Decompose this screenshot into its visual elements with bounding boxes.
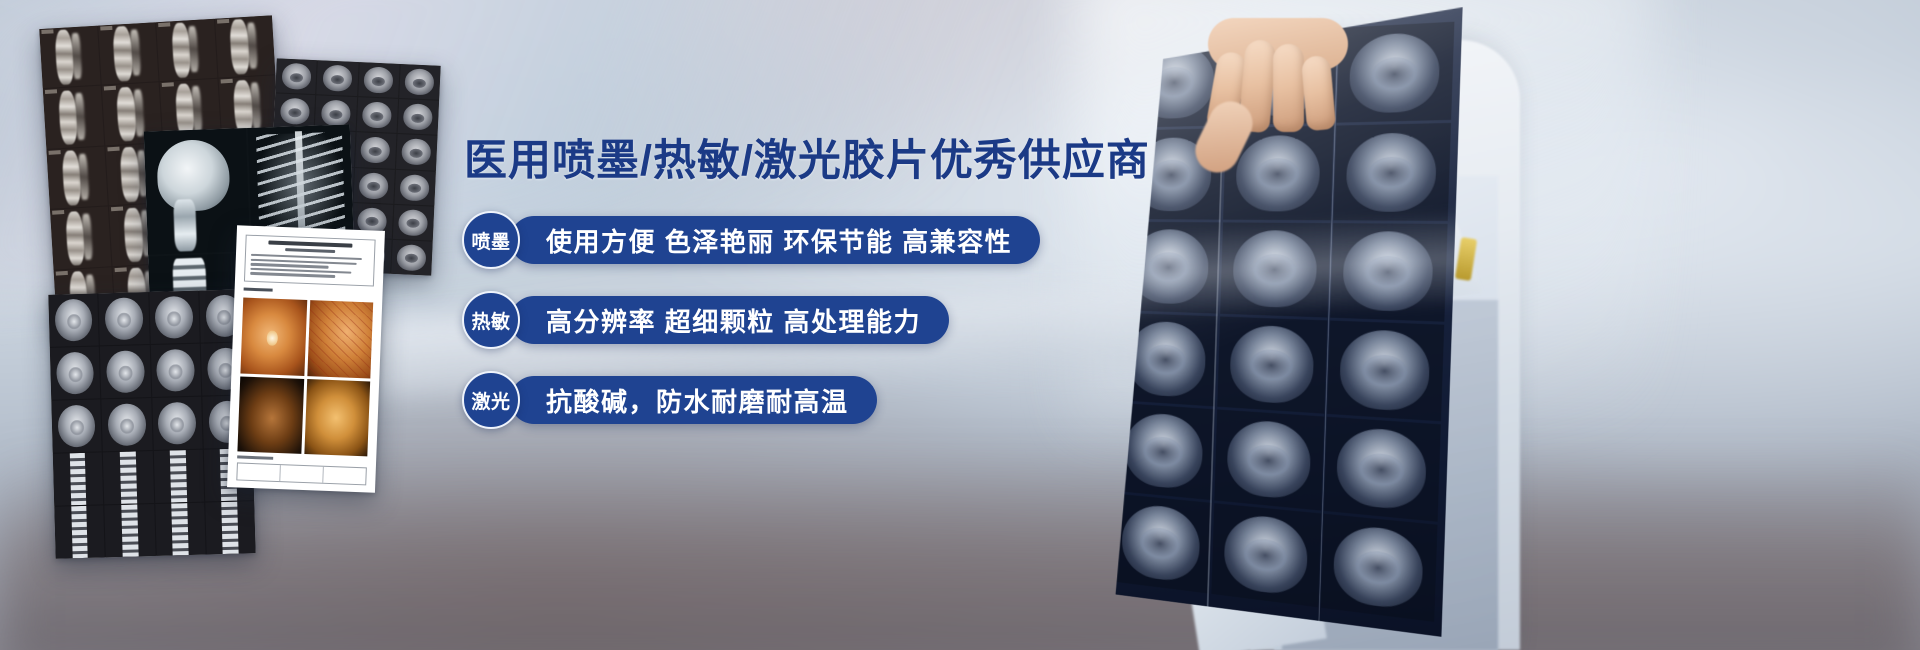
ultrasound-image-right (304, 379, 370, 457)
report-footer-table (236, 462, 367, 485)
brain-mri-spine-film (48, 289, 255, 558)
feature-text-thermal: 高分辨率 超细颗粒 高处理能力 (510, 296, 949, 344)
fundus-image-left (240, 297, 306, 375)
report-images (237, 297, 373, 456)
feature-text-inkjet: 使用方便 色泽艳丽 环保节能 高兼容性 (510, 216, 1040, 264)
page-title: 医用喷墨/热敏/激光胶片优秀供应商 (464, 138, 1082, 185)
medical-report-sheet (227, 225, 385, 492)
badge-inkjet: 喷墨 (462, 211, 520, 269)
feature-row-thermal: 热敏 高分辨率 超细颗粒 高处理能力 (462, 291, 1082, 349)
medical-film-stack (0, 0, 420, 650)
ultrasound-image-left (237, 376, 303, 454)
badge-laser: 激光 (462, 371, 520, 429)
banner-content: 医用喷墨/热敏/激光胶片优秀供应商 喷墨 使用方便 色泽艳丽 环保节能 高兼容性… (462, 138, 1082, 451)
doctor-holding-mri-film (1060, 0, 1560, 650)
fundus-image-right (307, 300, 373, 378)
badge-thermal: 热敏 (462, 291, 520, 349)
report-header (244, 235, 376, 287)
medical-film-banner: 医用喷墨/热敏/激光胶片优秀供应商 喷墨 使用方便 色泽艳丽 环保节能 高兼容性… (0, 0, 1920, 650)
feature-text-laser: 抗酸碱，防水耐磨耐高温 (510, 376, 877, 424)
doctor-hand (1194, 18, 1354, 138)
feature-row-inkjet: 喷墨 使用方便 色泽艳丽 环保节能 高兼容性 (462, 211, 1082, 269)
feature-row-laser: 激光 抗酸碱，防水耐磨耐高温 (462, 371, 1082, 429)
